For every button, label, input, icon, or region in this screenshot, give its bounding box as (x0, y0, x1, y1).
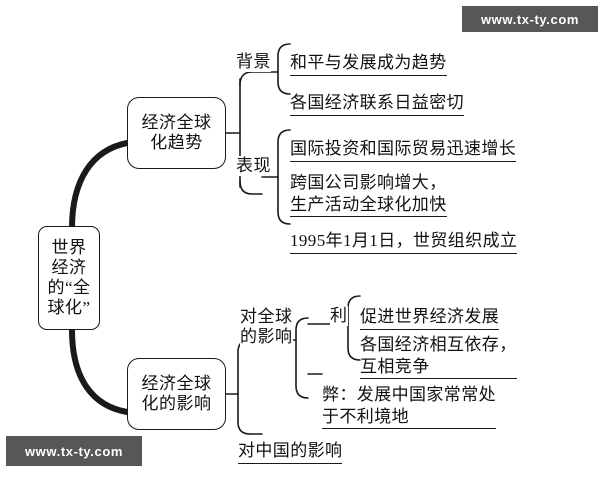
leaf-background-2-text: 各国经济联系日益密切 (290, 93, 464, 112)
leaf-background-1-text: 和平与发展成为趋势 (290, 53, 447, 72)
wire-trend-fork-top (240, 72, 262, 85)
branch-label-manifestation[interactable]: 表现 (236, 156, 271, 176)
leaf-cons-1-text: 弊：发展中国家常常处 于不利境地 (322, 385, 496, 426)
wire-trend-fork-bottom (240, 181, 262, 194)
leaf-china-impact[interactable]: 对中国的影响 (238, 418, 342, 480)
bracket-manifestation (278, 130, 290, 224)
branch-label-background[interactable]: 背景 (236, 52, 271, 72)
node-trend-label: 经济全球 化趋势 (142, 113, 212, 153)
leaf-underline (290, 253, 517, 254)
leaf-underline (238, 463, 342, 464)
node-impact[interactable]: 经济全球 化的影响 (127, 358, 226, 430)
node-center-label: 世界 经济 的“全 球化” (47, 238, 90, 318)
trunk-lower (72, 330, 127, 412)
leaf-manifestation-3-text: 1995年1月1日，世贸组织成立 (290, 231, 517, 250)
bracket-background (278, 44, 290, 94)
watermark-top: www.tx-ty.com (462, 6, 598, 32)
leaf-china-impact-text: 对中国的影响 (238, 441, 342, 460)
leaf-underline (322, 428, 496, 429)
node-trend[interactable]: 经济全球 化趋势 (127, 97, 226, 169)
watermark-top-text: www.tx-ty.com (481, 12, 579, 27)
mindmap-canvas: 世界 经济 的“全 球化” 经济全球 化趋势 经济全球 化的影响 背景 表现 对… (0, 0, 600, 480)
watermark-bottom-text: www.tx-ty.com (25, 444, 123, 459)
bracket-pros (348, 296, 360, 360)
leaf-manifestation-3[interactable]: 1995年1月1日，世贸组织成立 (290, 208, 517, 275)
branch-label-pros[interactable]: 利 (330, 306, 348, 326)
trunk-upper (72, 143, 127, 228)
branch-label-global-impact[interactable]: 对全球 的影响 (240, 307, 293, 348)
watermark-bottom: www.tx-ty.com (6, 436, 142, 466)
node-center[interactable]: 世界 经济 的“全 球化” (38, 226, 100, 330)
bracket-prescons (296, 318, 308, 398)
leaf-cons-1[interactable]: 弊：发展中国家常常处 于不利境地 (322, 362, 496, 451)
node-impact-label: 经济全球 化的影响 (142, 374, 212, 414)
